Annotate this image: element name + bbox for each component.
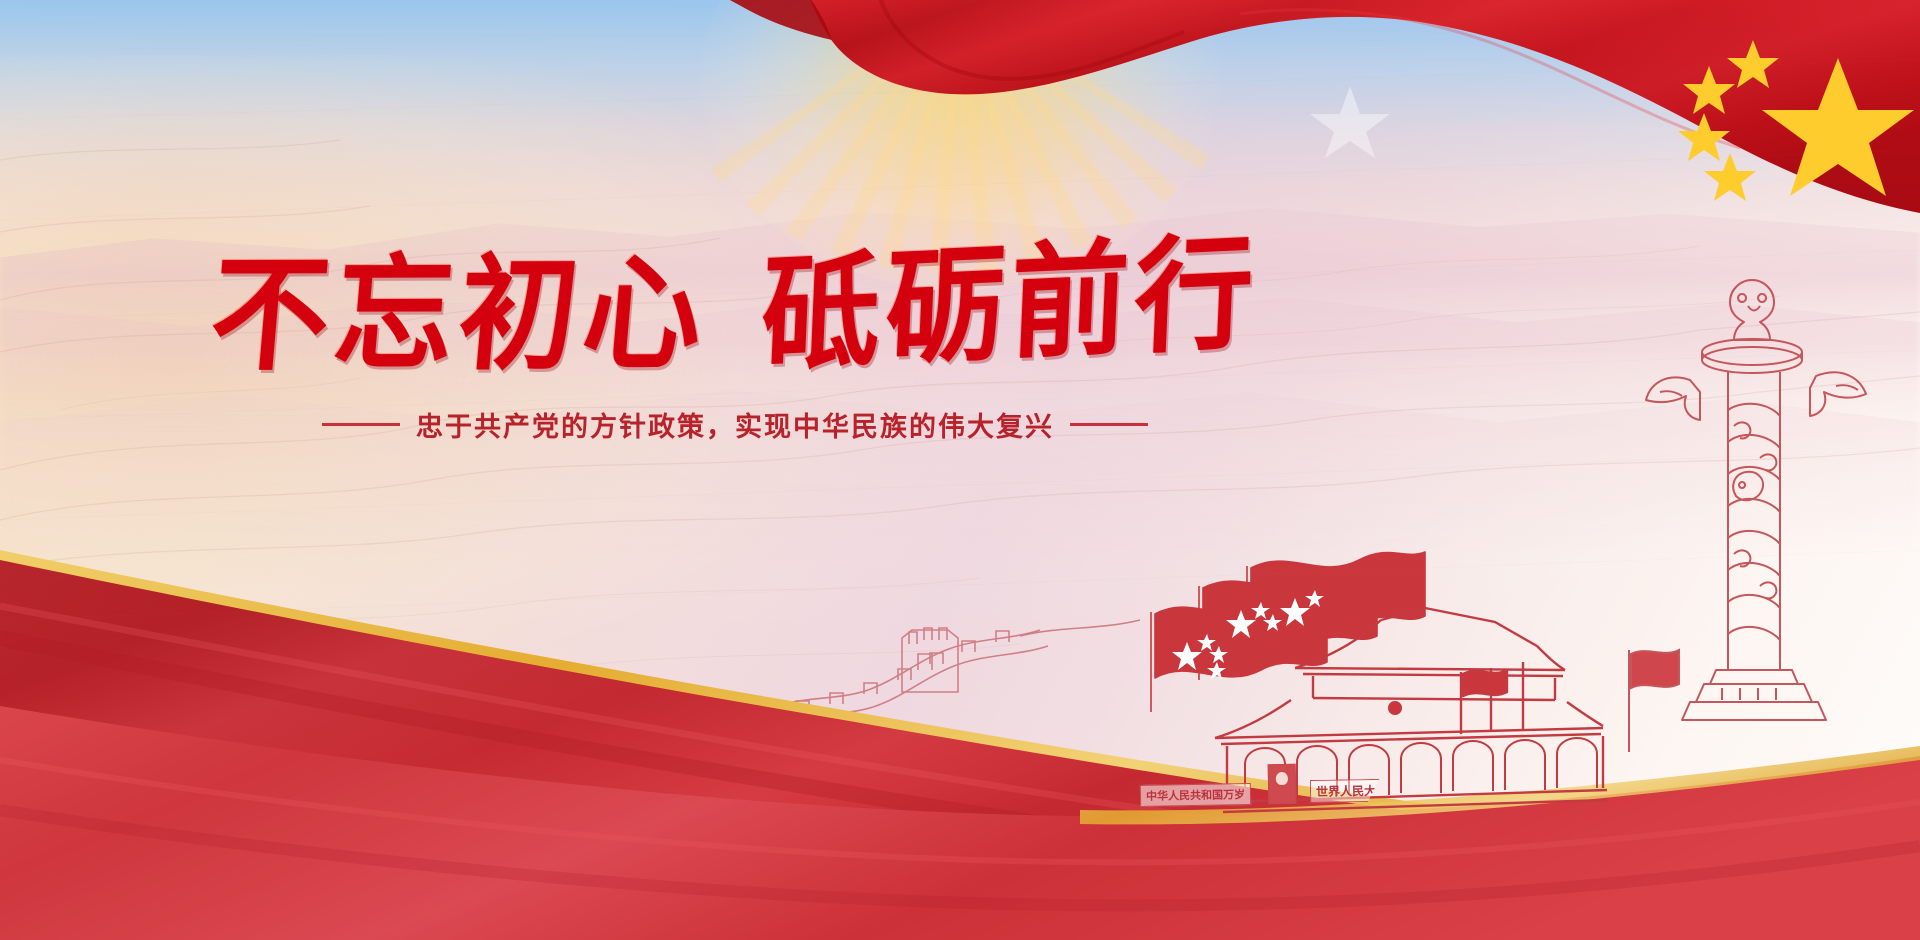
subtitle-rule-left bbox=[322, 423, 400, 426]
top-flag-banner bbox=[0, 0, 1920, 248]
mao-portrait-icon bbox=[1268, 764, 1297, 804]
ghost-star-icon bbox=[1290, 78, 1410, 158]
main-title-right: 砥砺前行 bbox=[759, 226, 1262, 381]
main-title-left: 不忘初心 bbox=[206, 247, 713, 380]
poster-canvas: 中华人民共和国万岁 世界人民大团结万岁 bbox=[0, 0, 1920, 940]
plaque-left-text: 中华人民共和国万岁 bbox=[1140, 783, 1251, 807]
side-flag-icon bbox=[1613, 640, 1693, 760]
subtitle-rule-right bbox=[1070, 423, 1148, 426]
main-title: 不忘初心砥砺前行 bbox=[0, 232, 1475, 385]
subtitle-block: 忠于共产党的方针政策，实现中华民族的伟大复兴 bbox=[0, 405, 1470, 444]
subtitle-text: 忠于共产党的方针政策，实现中华民族的伟大复兴 bbox=[416, 405, 1054, 444]
waving-flags-icon bbox=[1151, 552, 1425, 712]
title-block: 不忘初心砥砺前行 忠于共产党的方针政策，实现中华民族的伟大复兴 bbox=[0, 246, 1470, 444]
